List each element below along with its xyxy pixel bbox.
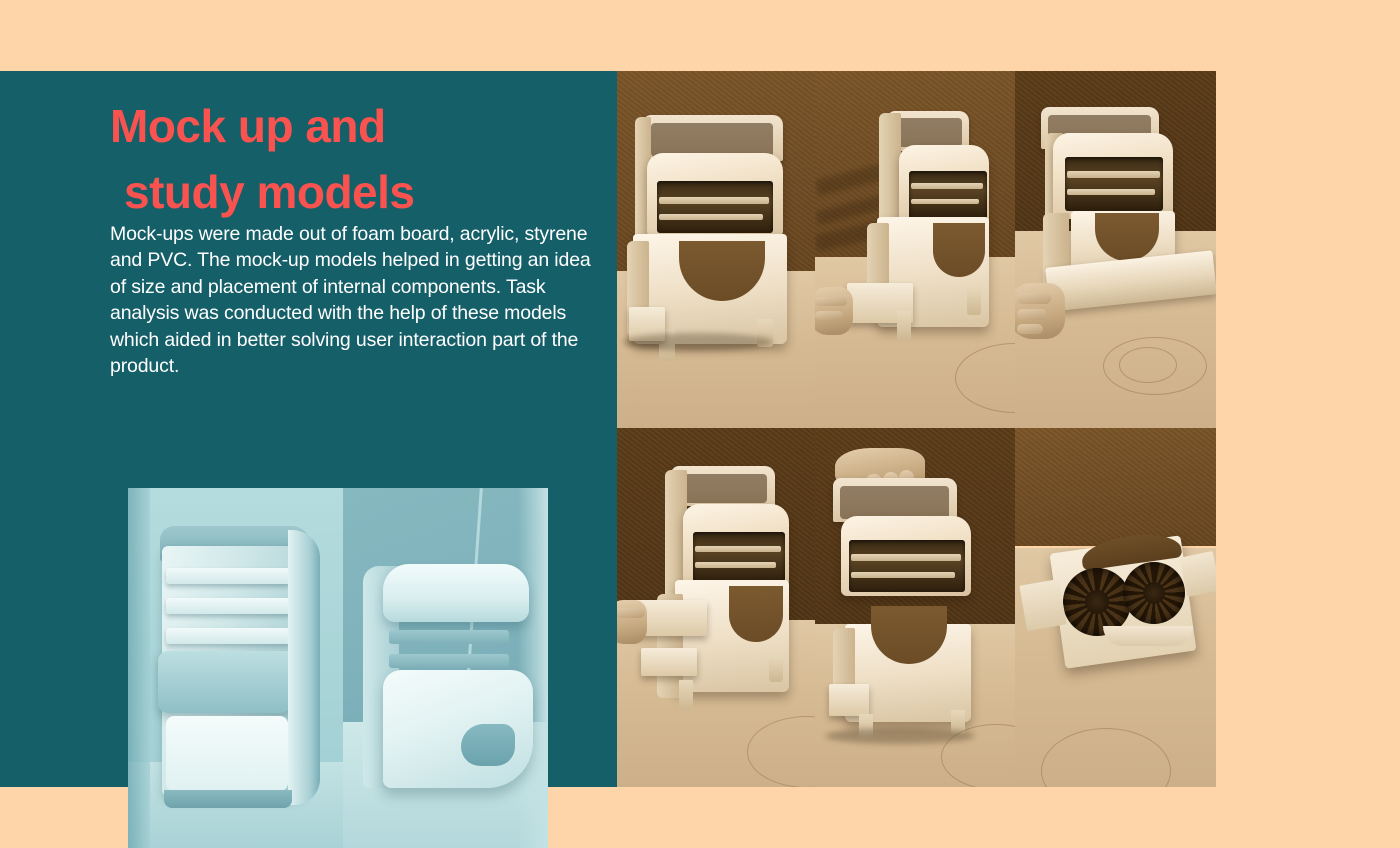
page-title: Mock up and study models [110,93,610,225]
photo-mockup-cartridge-removal [1015,71,1216,428]
title-line-1: Mock up and [110,93,610,159]
cyan-photo-strip [128,488,548,848]
slide-canvas: Mock up and study models Mock-ups were m… [0,0,1400,787]
photo-mockup-tray-open-front [617,428,815,787]
title-line-2: study models [110,159,610,225]
photo-mockup-side-view [343,488,548,848]
photo-mockup-drawer-pull-out [815,71,1015,428]
photo-mockup-front-view-slatted [128,488,343,848]
body-paragraph: Mock-ups were made out of foam board, ac… [110,221,602,379]
photo-mockup-three-quarter-view [617,71,815,428]
photo-mockup-dual-fan-module [1015,428,1216,787]
content-panel: Mock up and study models Mock-ups were m… [0,71,617,787]
photo-grid [617,71,1216,787]
photo-mockup-lid-lift [815,428,1015,787]
